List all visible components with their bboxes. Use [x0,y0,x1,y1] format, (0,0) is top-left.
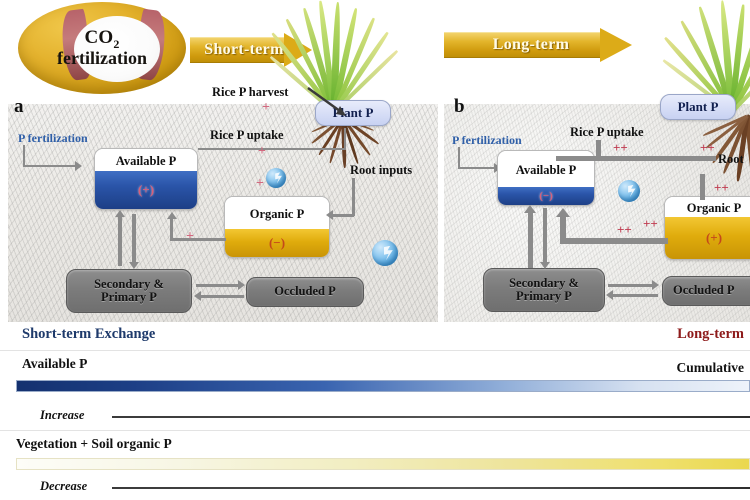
mineralization-arrowhead-a [167,212,177,219]
legend-decrease-rule [112,487,750,489]
organic-p-fill-b: (+) [665,217,750,259]
plus-mark-a-1: + [262,100,270,116]
long-term-arrow-label: Long-term [444,28,632,62]
organic-p-fill-a: (−) [225,229,329,257]
occluded-p-label-a: Occluded P [274,285,335,298]
plus-mark-a-4: + [186,229,194,245]
available-p-fill-b: (−) [498,187,594,205]
plant-p-label-b: Plant P [678,100,719,114]
mineralization-line-v-a [170,218,173,240]
secondary-occluded-right-a [196,284,240,287]
plant-p-box-b[interactable]: Plant P [660,94,736,120]
root-inputs-line-v-a [352,178,355,216]
p-fertilization-label-a: P fertilization [18,131,88,146]
root-inputs-arrowhead-a [326,210,333,220]
panel-b-letter: b [454,96,465,118]
mineralization-line-v-b [560,216,566,240]
avail-secondary-up-head-a [115,210,125,217]
plus-mark-b-1: ++ [613,140,628,156]
available-p-box-a[interactable]: Available P (+) [94,148,198,210]
secondary-occluded-right-head-b [652,280,659,290]
available-p-fill-a: (+) [95,171,197,209]
co2-fertilization-label: CO2 fertilization [18,2,186,94]
mineralization-arrowhead-b [556,208,570,217]
secondary-occluded-left-a [200,295,244,298]
root-inputs-label-a: Root inputs [350,163,412,178]
avail-secondary-down-a [132,214,136,264]
p-fertilization-label-b: P fertilization [452,133,522,148]
legend-rule-1 [0,350,750,351]
avail-secondary-up-a [118,216,122,266]
legend-decrease-label: Decrease [40,479,87,494]
p-fertilization-line-v-b [458,147,460,169]
rice-p-harvest-label-a: Rice P harvest [212,85,288,100]
organic-p-title-a: Organic P [225,197,329,231]
globe-icon-a-2 [372,240,398,266]
legend-long-term-heading: Long-term [677,326,744,343]
mineralization-line-h-b [560,238,668,244]
rice-uptake-line-v-a [344,128,346,150]
mineralization-line-h-a [170,238,226,241]
globe-icon-b-1 [618,180,640,202]
plus-mark-b-2: ++ [700,140,715,156]
avail-secondary-down-head-b [540,262,550,269]
root-inputs-label-b: Root [718,152,744,167]
avail-secondary-up-b [528,212,533,268]
rice-uptake-line-a [198,148,346,150]
avail-secondary-up-head-b [524,205,536,213]
legend-vegetation-title: Vegetation + Soil organic P [16,436,172,452]
occluded-p-label-b: Occluded P [673,284,734,297]
secondary-occluded-left-head-a [194,291,201,301]
p-fertilization-line-h-a [23,165,77,167]
secondary-primary-p-box-b[interactable]: Secondary & Primary P [483,268,605,312]
legend-cumulative-title: Cumulative [677,360,745,376]
organic-p-sign-b: (+) [706,230,722,246]
avail-secondary-down-head-a [129,262,139,269]
p-fertilization-arrowhead-a [75,161,82,171]
secondary-primary-line2-b: Primary P [516,290,572,303]
plus-mark-b-5: ++ [643,216,658,232]
available-p-title-a: Available P [95,149,197,173]
secondary-occluded-left-head-b [606,290,613,300]
legend-available-p-gradient-bar [16,380,750,392]
panel-a-letter: a [14,96,24,118]
rice-uptake-line-v-b [596,140,601,160]
plus-mark-b-4: ++ [617,222,632,238]
secondary-occluded-right-head-a [238,280,245,290]
globe-icon-a-1 [266,168,286,188]
p-fertilization-line-v-a [23,145,25,167]
occluded-p-box-a[interactable]: Occluded P [246,277,364,307]
legend-vegetation-gradient-bar [16,458,750,470]
legend-increase-rule [112,416,750,418]
co2-text-main: CO [84,27,113,48]
plus-mark-a-2: + [258,144,266,160]
secondary-primary-p-box-a[interactable]: Secondary & Primary P [66,269,192,313]
occluded-p-box-b[interactable]: Occluded P [662,276,750,306]
organic-p-title-b: Organic P [665,197,750,219]
long-term-arrow: Long-term [444,28,632,62]
secondary-occluded-right-b [608,284,654,287]
root-inputs-line-v-b [700,174,705,200]
co2-fertilization-word: fertilization [57,49,147,67]
legend-short-term-heading: Short-term Exchange [22,326,155,343]
organic-p-box-b[interactable]: Organic P (+) [664,196,750,260]
legend-increase-label: Increase [40,408,84,423]
figure-root: CO2 fertilization Short-term a Plant P [0,0,750,500]
rice-uptake-line-b [556,156,716,161]
organic-p-sign-a: (−) [269,235,285,251]
available-p-sign-b: (−) [539,190,553,202]
legend-panel: Short-term Exchange Long-term Available … [0,324,750,500]
legend-available-p-title: Available P [22,356,87,372]
organic-p-box-a[interactable]: Organic P (−) [224,196,330,258]
available-p-sign-a: (+) [138,182,154,198]
legend-rule-2 [0,430,750,431]
rice-p-uptake-label-a: Rice P uptake [210,128,284,143]
plus-mark-b-3: ++ [714,180,729,196]
plus-mark-a-3: + [256,176,264,192]
avail-secondary-down-b [543,208,547,264]
rice-p-harvest-arrow-a [300,84,346,118]
rice-p-uptake-label-b: Rice P uptake [570,125,644,140]
secondary-occluded-left-b [612,294,658,297]
p-fertilization-line-h-b [458,167,496,169]
root-inputs-line-h-a [332,214,354,217]
secondary-primary-line2-a: Primary P [101,291,157,304]
